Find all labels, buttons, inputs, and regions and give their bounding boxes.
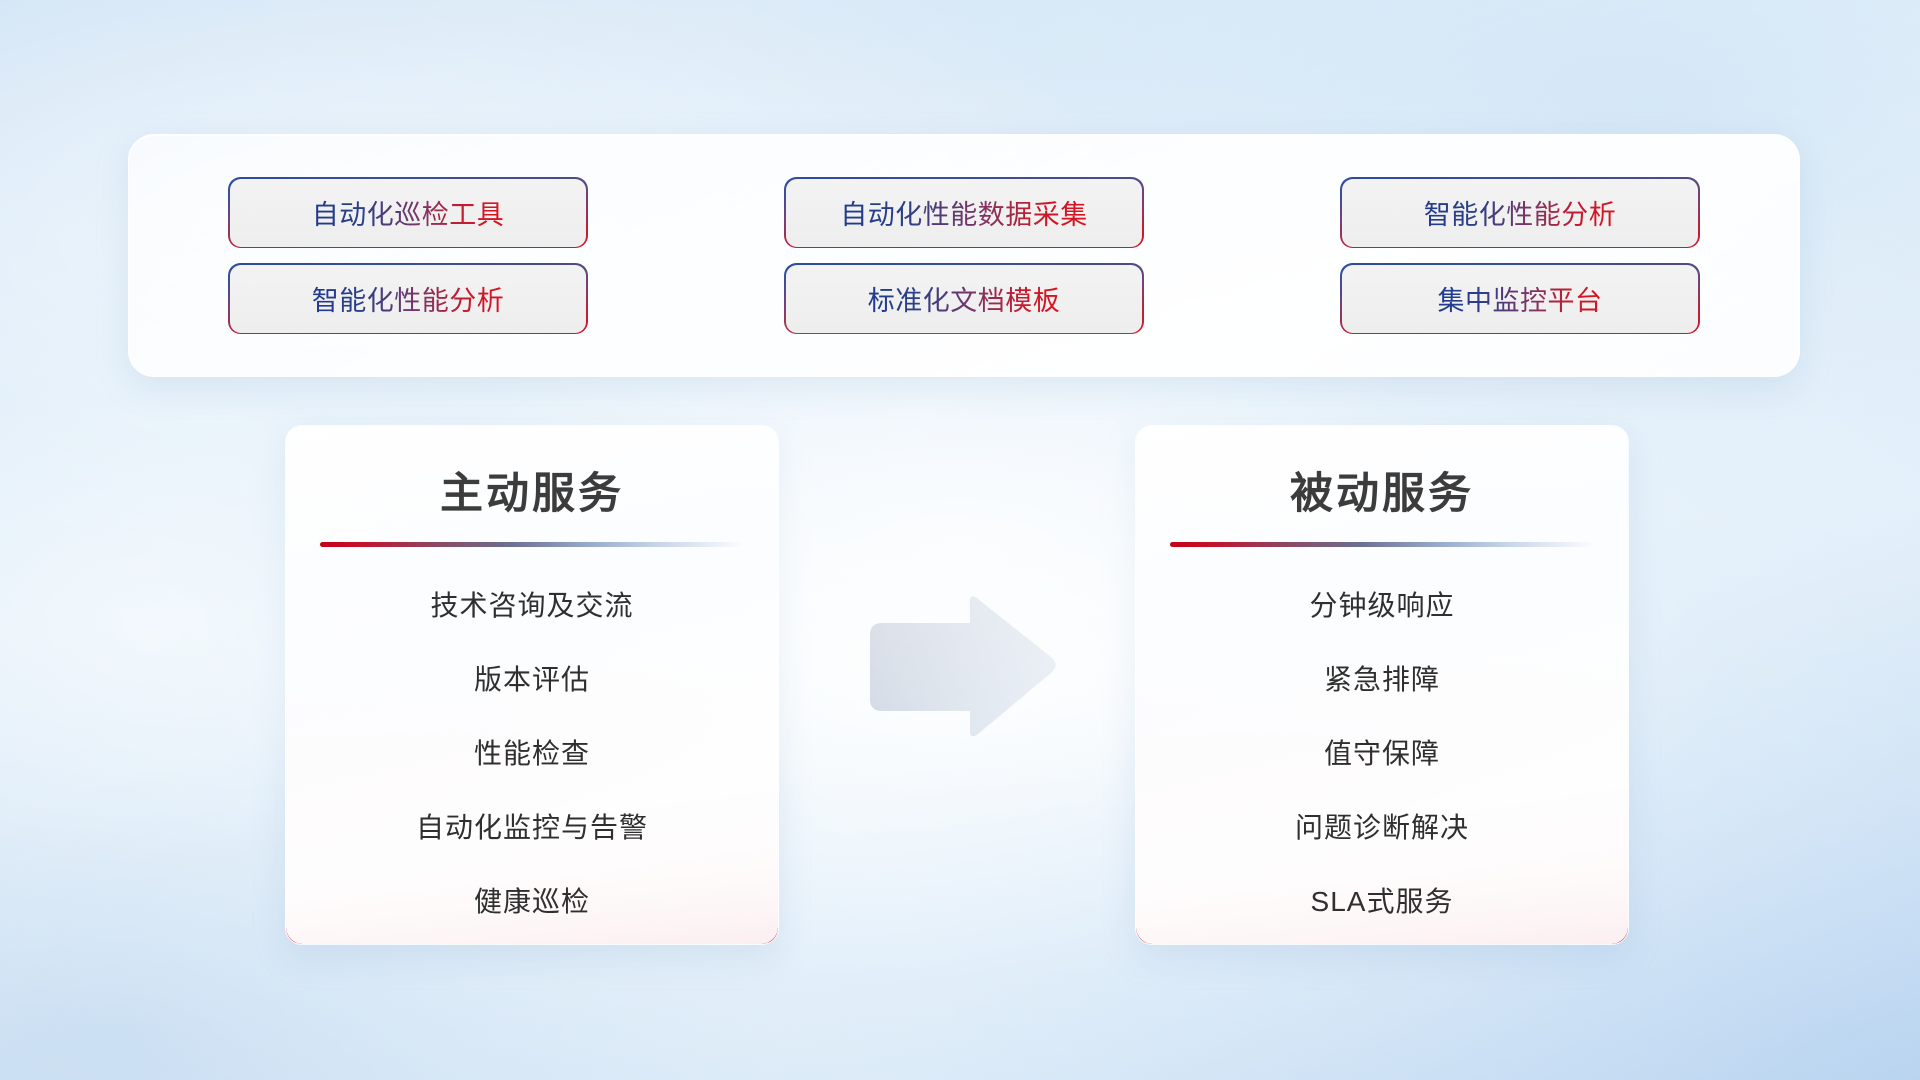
- capability-pill-automated-performance-data-collection[interactable]: 自动化性能数据采集: [786, 179, 1142, 247]
- list-item[interactable]: 分钟级响应: [1309, 577, 1454, 635]
- capability-cell: 自动化性能数据采集: [686, 179, 1242, 247]
- service-card-passive-list: 分钟级响应 紧急排障 值守保障 问题诊断解决 SLA式服务: [1136, 577, 1628, 931]
- list-item[interactable]: SLA式服务: [1311, 873, 1454, 931]
- capability-cell: 自动化巡检工具: [130, 179, 686, 247]
- capability-cell: 集中监控平台: [1242, 265, 1798, 333]
- service-card-active-content: 主动服务 技术咨询及交流 版本评估 性能检查 自动化监控与告警 健康巡检: [286, 426, 778, 944]
- service-card-passive-title: 被动服务: [1290, 459, 1474, 521]
- capability-pill-label: 智能化性能分析: [312, 279, 505, 318]
- capability-cell: 标准化文档模板: [686, 265, 1242, 333]
- diagram-canvas: 自动化巡检工具 自动化性能数据采集 智能化性能分析 智能化性能分析: [0, 0, 1920, 1080]
- service-card-passive-content: 被动服务 分钟级响应 紧急排障 值守保障 问题诊断解决 SLA式服务: [1136, 426, 1628, 944]
- service-card-active-title: 主动服务: [440, 459, 624, 521]
- capability-pill-intelligent-performance-analysis-2[interactable]: 智能化性能分析: [230, 265, 586, 333]
- capability-pill-automated-inspection-tool[interactable]: 自动化巡检工具: [230, 179, 586, 247]
- list-item[interactable]: 版本评估: [474, 651, 590, 709]
- title-divider: [320, 542, 744, 547]
- capability-pill-label: 智能化性能分析: [1424, 193, 1617, 232]
- flow-arrow: [858, 595, 1058, 740]
- capability-pill-standardized-document-template[interactable]: 标准化文档模板: [786, 265, 1142, 333]
- capability-row-1: 自动化巡检工具 自动化性能数据采集 智能化性能分析: [129, 179, 1799, 247]
- list-item[interactable]: 值守保障: [1324, 725, 1440, 783]
- list-item[interactable]: 紧急排障: [1324, 651, 1440, 709]
- capability-cell: 智能化性能分析: [1242, 179, 1798, 247]
- capability-pill-intelligent-performance-analysis[interactable]: 智能化性能分析: [1342, 179, 1698, 247]
- list-item[interactable]: 问题诊断解决: [1295, 799, 1469, 857]
- capability-pill-label: 自动化性能数据采集: [840, 193, 1088, 232]
- list-item[interactable]: 自动化监控与告警: [416, 799, 648, 857]
- service-card-active[interactable]: 主动服务 技术咨询及交流 版本评估 性能检查 自动化监控与告警 健康巡检: [285, 425, 779, 945]
- capability-cell: 智能化性能分析: [130, 265, 686, 333]
- capability-pill-label: 集中监控平台: [1438, 279, 1603, 318]
- capability-pill-label: 标准化文档模板: [868, 279, 1061, 318]
- title-divider: [1170, 542, 1594, 547]
- list-item[interactable]: 技术咨询及交流: [430, 577, 633, 635]
- service-card-active-list: 技术咨询及交流 版本评估 性能检查 自动化监控与告警 健康巡检: [286, 577, 778, 931]
- capability-row-2: 智能化性能分析 标准化文档模板 集中监控平台: [129, 265, 1799, 333]
- list-item[interactable]: 健康巡检: [474, 873, 590, 931]
- capability-pill-label: 自动化巡检工具: [312, 193, 505, 232]
- list-item[interactable]: 性能检查: [474, 725, 590, 783]
- capability-panel: 自动化巡检工具 自动化性能数据采集 智能化性能分析 智能化性能分析: [128, 134, 1800, 377]
- service-card-passive[interactable]: 被动服务 分钟级响应 紧急排障 值守保障 问题诊断解决 SLA式服务: [1135, 425, 1629, 945]
- capability-pill-centralized-monitoring-platform[interactable]: 集中监控平台: [1342, 265, 1698, 333]
- arrow-right-icon: [858, 595, 1058, 740]
